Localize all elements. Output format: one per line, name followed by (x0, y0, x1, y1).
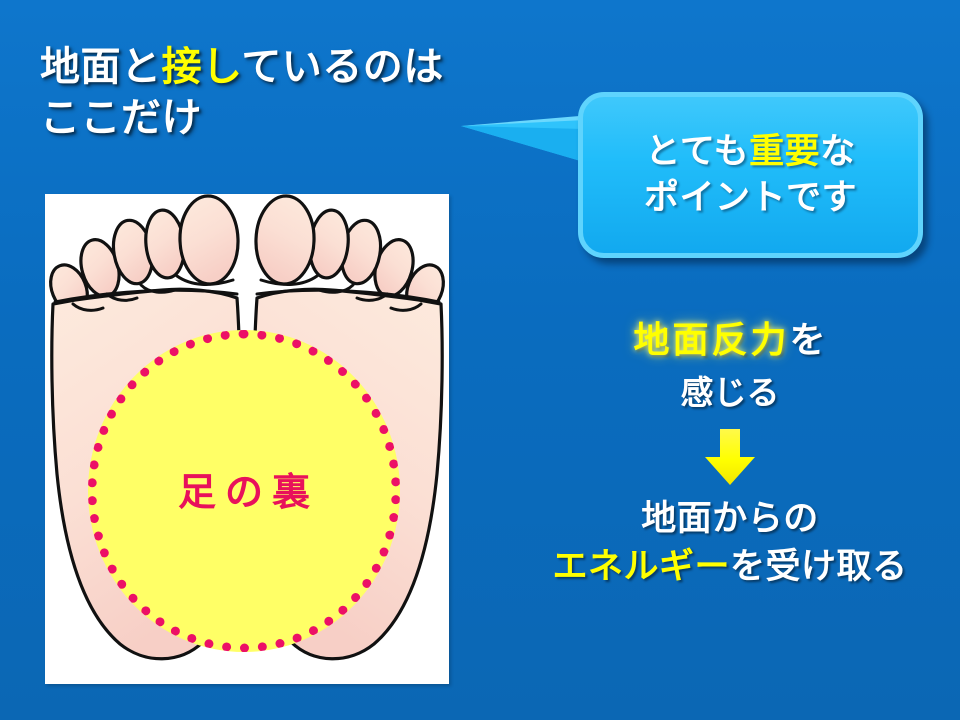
speech-bubble-text: とても重要なポイントです (583, 97, 918, 253)
receive-energy-line: エネルギーを受け取る (500, 547, 960, 588)
bubble-line1-post: な (820, 132, 856, 172)
bubble-line1-pre: とても (645, 132, 749, 172)
feel-line: 感じる (500, 374, 960, 413)
bubble-line2: ポイントです (644, 175, 857, 221)
bubble-line1-highlight: 重要 (749, 132, 820, 172)
ground-reaction-line: 地面反力を (500, 320, 960, 362)
ground-reaction-highlight: 地面反力 (633, 320, 789, 361)
ground-reaction-post: を (790, 320, 827, 361)
slide-canvas: 地面と接しているのはここだけ とても重要なポイントです (0, 0, 960, 720)
speech-bubble-body: とても重要なポイントです (578, 92, 923, 258)
receive-energy-post: を受け取る (730, 547, 908, 587)
speech-bubble: とても重要なポイントです (455, 86, 935, 266)
sole-contact-area-circle: 足の裏 (88, 330, 400, 652)
sole-contact-area-label: 足の裏 (169, 461, 319, 516)
title-line1-post: ているのは (241, 44, 444, 90)
down-arrow-icon (702, 427, 758, 487)
right-column: 地面反力を 感じる 地面からの エネルギーを受け取る (500, 320, 960, 588)
foot-illustration-panel: 足の裏 (45, 194, 449, 684)
title-line1-pre: 地面と (40, 44, 162, 90)
energy-highlight: エネルギー (552, 547, 730, 587)
title-line1-highlight: 接し (162, 44, 242, 90)
from-ground-line: 地面からの (500, 499, 960, 540)
title-line2: ここだけ (40, 95, 202, 141)
